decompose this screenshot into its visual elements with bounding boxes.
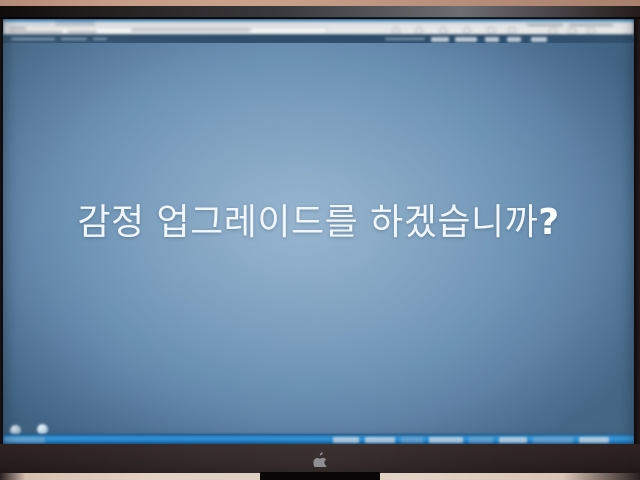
taskbar-item[interactable] (333, 437, 359, 443)
taskbar-item[interactable] (429, 437, 463, 443)
window-maximize-icon[interactable] (568, 28, 576, 35)
taskbar-item[interactable] (499, 437, 527, 443)
taskbar-tray[interactable] (579, 437, 609, 443)
chrome-label (527, 24, 563, 26)
browser-tab[interactable] (7, 21, 51, 26)
window-minimize-icon[interactable] (549, 28, 557, 35)
monitor-photo: 감정 업그레이드를 하겠습니까? (0, 0, 640, 480)
app-toolbar-button[interactable] (485, 37, 499, 42)
back-icon[interactable] (392, 27, 400, 35)
app-toolbar-label (93, 38, 107, 40)
menu-icon[interactable] (508, 27, 516, 34)
taskbar-item[interactable] (469, 437, 493, 443)
taskbar-clock[interactable] (533, 437, 573, 443)
monitor-bezel-right (634, 19, 640, 445)
display-screen: 감정 업그레이드를 하겠습니까? (3, 19, 634, 445)
address-bar-text (131, 29, 251, 31)
browser-tab[interactable] (55, 21, 95, 26)
slide-headline-text: 감정 업그레이드를 하겠습니까 (77, 202, 538, 243)
slide-headline: 감정 업그레이드를 하겠습니까? (3, 205, 634, 241)
apple-logo-icon (313, 452, 327, 467)
app-toolbar-button[interactable] (507, 37, 521, 42)
chrome-label (569, 24, 613, 26)
reload-icon[interactable] (439, 27, 447, 35)
app-toolbar-label (61, 38, 87, 40)
chrome-label (9, 31, 63, 33)
home-icon[interactable] (463, 27, 471, 35)
taskbar-item[interactable] (401, 437, 423, 443)
taskbar-start-button[interactable] (5, 437, 45, 443)
window-close-icon[interactable] (587, 28, 595, 35)
taskbar-item[interactable] (365, 437, 395, 443)
slide-headline-question-mark: ? (538, 202, 559, 243)
chrome-label (67, 31, 97, 33)
app-toolbar-button[interactable] (431, 37, 449, 42)
bookmark-icon[interactable] (487, 27, 495, 34)
forward-icon[interactable] (415, 27, 423, 35)
app-toolbar-label (385, 38, 425, 40)
app-toolbar-label (11, 38, 55, 40)
app-toolbar-button[interactable] (531, 37, 547, 42)
app-toolbar-button[interactable] (455, 37, 477, 42)
monitor-stand-notch (260, 472, 380, 480)
